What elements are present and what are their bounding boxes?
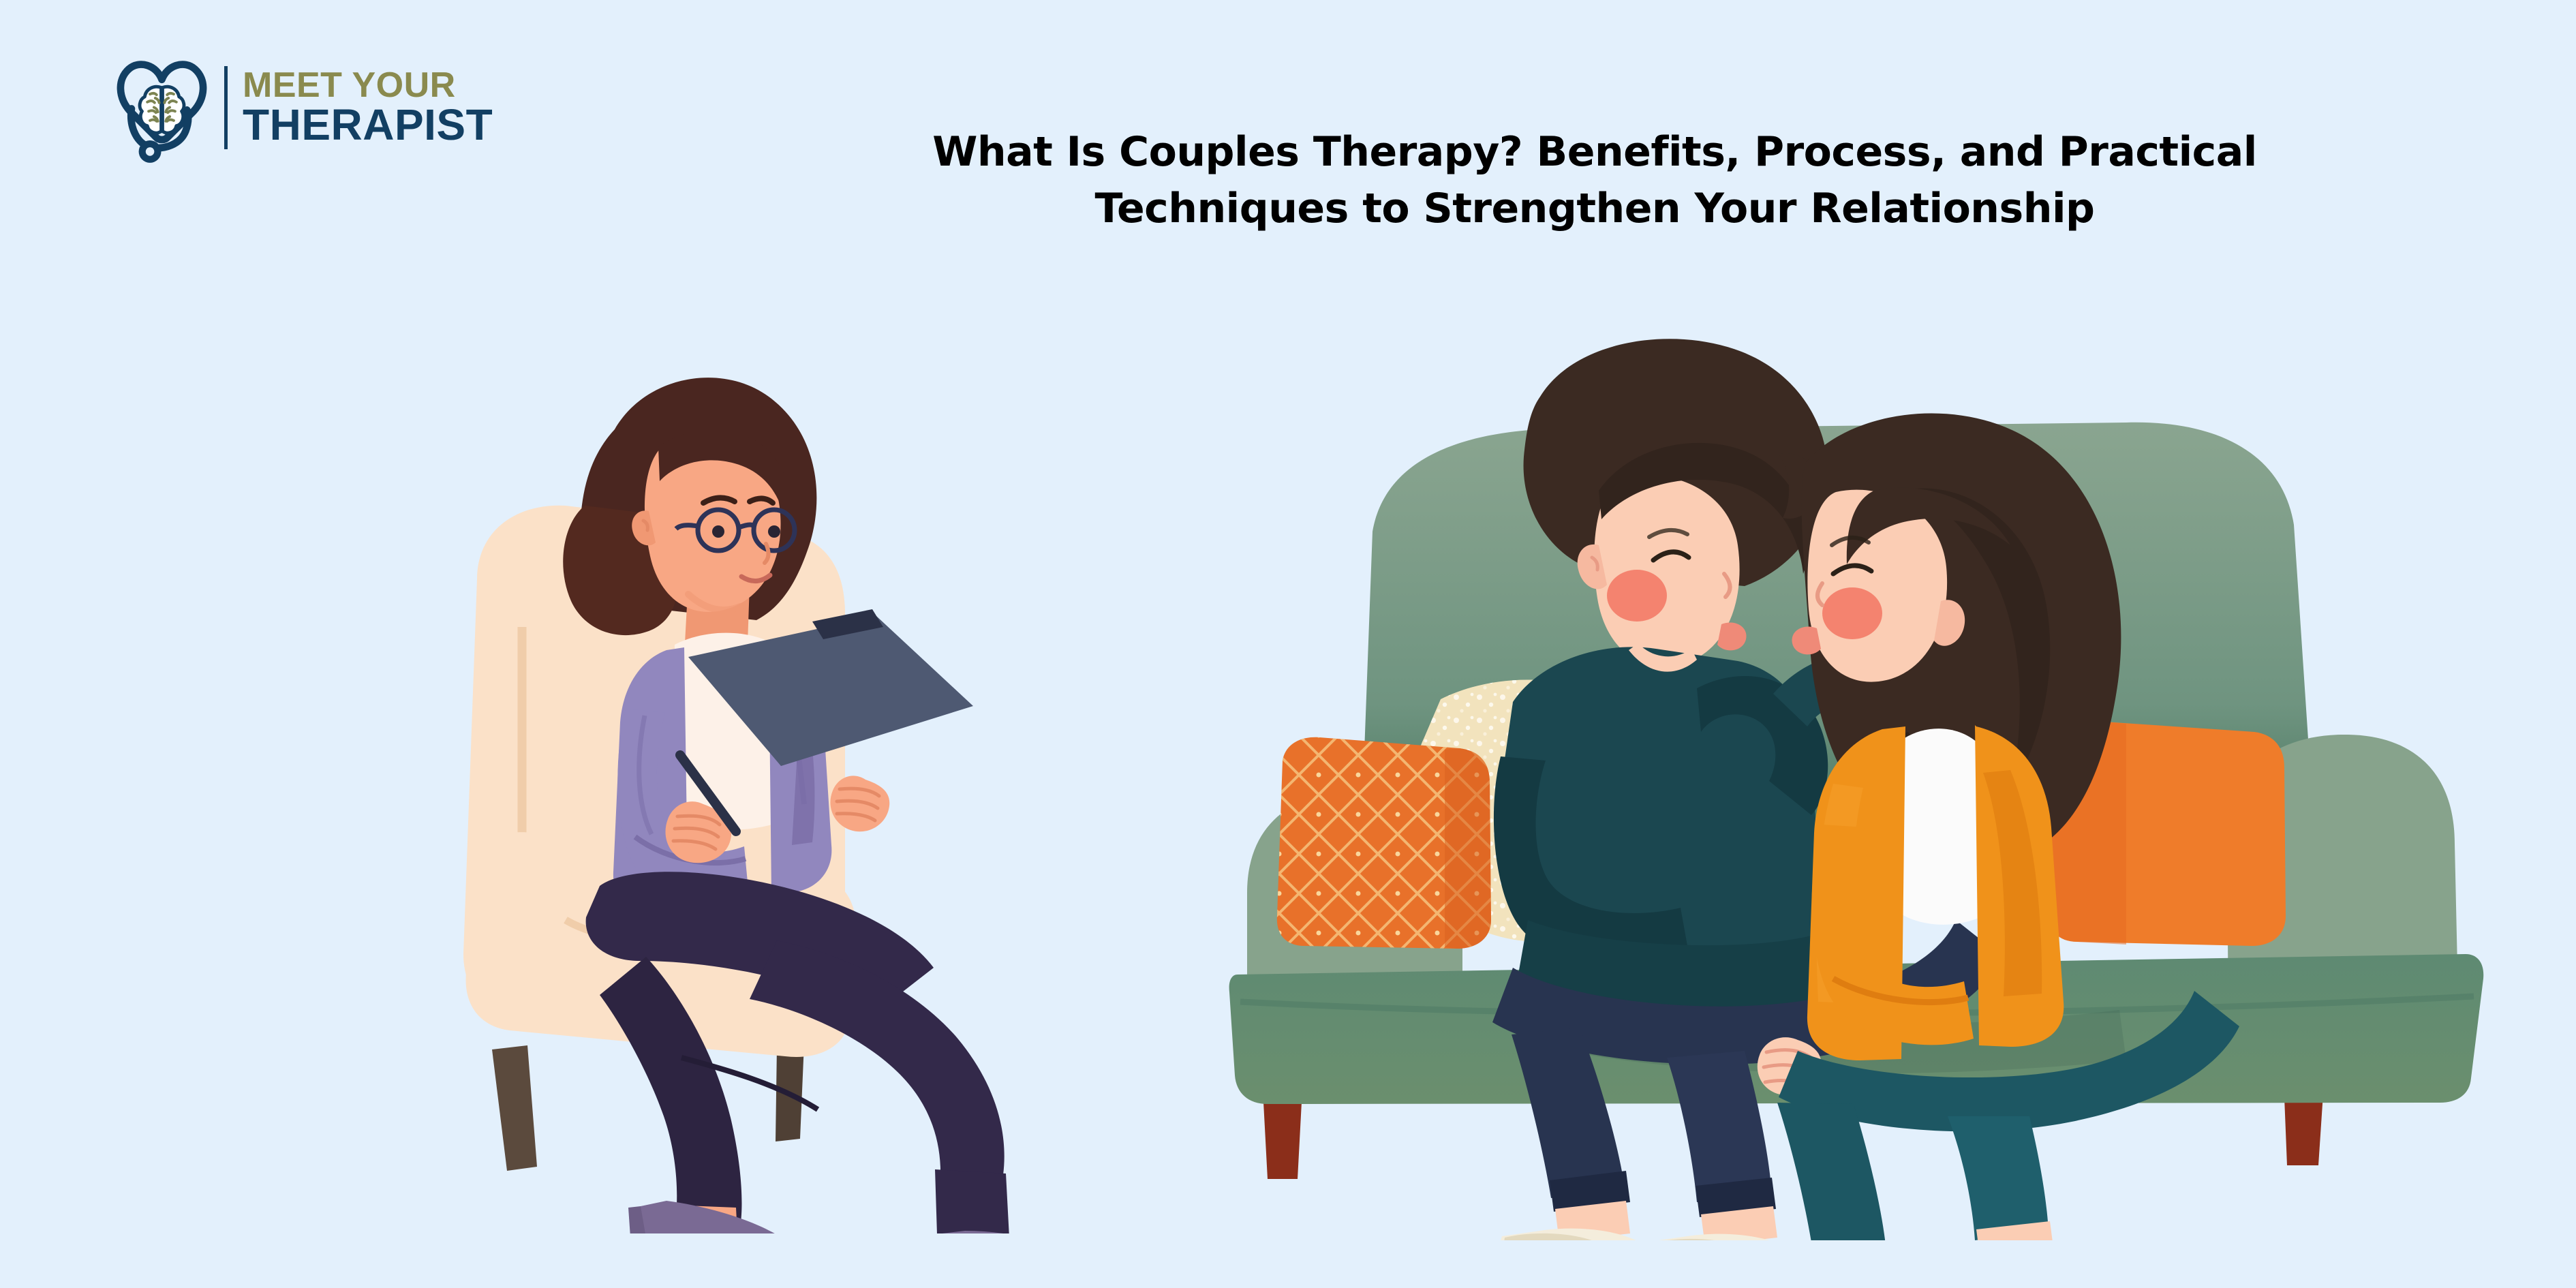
woman-top <box>1896 729 1989 925</box>
man-shoe-right <box>1640 1234 1806 1240</box>
couple-illustration <box>1220 320 2508 1240</box>
brand-logo[interactable]: MEET YOUR THERAPIST <box>109 48 493 167</box>
page-title: What Is Couples Therapy? Benefits, Proce… <box>804 124 2385 237</box>
wordmark-line-therapist: THERAPIST <box>243 105 493 145</box>
therapist-hand-holding <box>830 776 889 831</box>
wordmark-line-meet-your: MEET YOUR <box>243 70 493 102</box>
logo-divider <box>224 66 228 149</box>
logo-wordmark: MEET YOUR THERAPIST <box>243 70 493 145</box>
cushion-orange-left <box>1277 737 1491 949</box>
banner-root: MEET YOUR THERAPIST What Is Couples Ther… <box>0 0 2576 1288</box>
heart-stethoscope-brain-icon <box>109 48 215 167</box>
therapist-illustration <box>395 327 1186 1233</box>
therapist-trousers-leg-lower <box>935 1169 1013 1233</box>
